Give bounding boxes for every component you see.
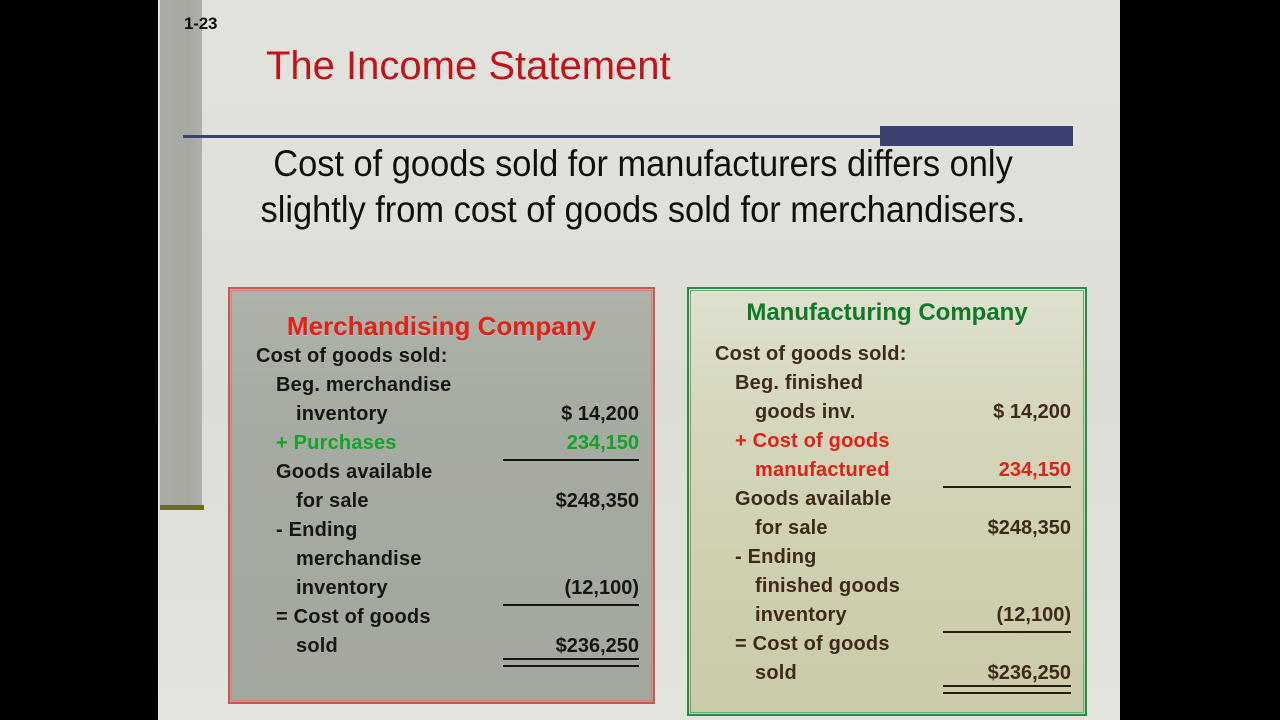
merchandising-panel-heading: Merchandising Company — [230, 311, 653, 342]
statement-row-label: Goods available — [256, 461, 432, 484]
statement-row-amount — [951, 504, 1071, 505]
statement-row-label: sold — [715, 662, 797, 685]
statement-row-label: for sale — [715, 517, 828, 540]
statement-row-label: = Cost of goods — [256, 606, 431, 629]
statement-row-amount: $ 14,200 — [951, 401, 1071, 425]
statement-row-label: merchandise — [256, 548, 422, 571]
statement-row-label: manufactured — [715, 459, 890, 482]
statement-row-amount — [511, 564, 639, 565]
statement-row-label: finished goods — [715, 575, 900, 598]
statement-row-label: inventory — [256, 577, 388, 600]
statement-row-label: - Ending — [715, 546, 817, 569]
statement-row-label: inventory — [715, 604, 847, 627]
statement-row: manufactured234,150 — [715, 459, 1071, 488]
statement-row-amount: $248,350 — [951, 517, 1071, 541]
merchandising-company-panel: Merchandising Company Cost of goods sold… — [228, 287, 655, 704]
statement-row: goods inv.$ 14,200 — [715, 401, 1071, 430]
merchandising-statement-rows: Cost of goods sold:Beg. merchandiseinven… — [230, 345, 653, 664]
statement-row: Cost of goods sold: — [256, 345, 639, 374]
statement-row: merchandise — [256, 548, 639, 577]
statement-row: inventory(12,100) — [256, 577, 639, 606]
statement-row-label: inventory — [256, 403, 388, 426]
manufacturing-statement-rows: Cost of goods sold:Beg. finishedgoods in… — [689, 343, 1085, 691]
statement-row: = Cost of goods — [256, 606, 639, 635]
title-divider-block — [880, 126, 1073, 146]
statement-row: Goods available — [715, 488, 1071, 517]
statement-row-label: goods inv. — [715, 401, 856, 424]
statement-row: sold$236,250 — [715, 662, 1071, 691]
statement-row-label: - Ending — [256, 519, 358, 542]
statement-row-amount: (12,100) — [951, 604, 1071, 628]
manufacturing-panel-heading: Manufacturing Company — [689, 299, 1085, 327]
slide-left-accent-band — [160, 0, 202, 508]
statement-row: sold$236,250 — [256, 635, 639, 664]
statement-row-label: Cost of goods sold: — [715, 343, 907, 366]
statement-row: Beg. finished — [715, 372, 1071, 401]
statement-row: for sale$248,350 — [256, 490, 639, 519]
statement-row-amount — [951, 649, 1071, 650]
statement-row-amount — [511, 361, 639, 362]
statement-row-label: Beg. merchandise — [256, 374, 452, 397]
statement-row-amount: $236,250 — [511, 635, 639, 659]
statement-row-amount: 234,150 — [511, 432, 639, 456]
lead-paragraph: Cost of goods sold for manufacturers dif… — [248, 141, 1039, 233]
statement-row-label: Beg. finished — [715, 372, 863, 395]
statement-row-amount: 234,150 — [951, 459, 1071, 483]
statement-row-amount — [951, 446, 1071, 447]
manufacturing-company-panel: Manufacturing Company Cost of goods sold… — [687, 287, 1087, 716]
statement-row: finished goods — [715, 575, 1071, 604]
statement-row-label: Goods available — [715, 488, 891, 511]
statement-row-amount: $ 14,200 — [511, 403, 639, 427]
statement-row: Cost of goods sold: — [715, 343, 1071, 372]
statement-row-amount: $248,350 — [511, 490, 639, 514]
statement-row-amount — [511, 477, 639, 478]
statement-row: for sale$248,350 — [715, 517, 1071, 546]
statement-row-amount — [951, 359, 1071, 360]
statement-row-label: sold — [256, 635, 338, 658]
statement-row: - Ending — [715, 546, 1071, 575]
statement-row-label: + Purchases — [256, 432, 397, 455]
statement-row-amount — [511, 390, 639, 391]
statement-row: + Purchases234,150 — [256, 432, 639, 461]
statement-row: Goods available — [256, 461, 639, 490]
statement-row-amount: (12,100) — [511, 577, 639, 601]
page-title: The Income Statement — [266, 44, 671, 89]
statement-row-amount: $236,250 — [951, 662, 1071, 686]
statement-row-label: = Cost of goods — [715, 633, 890, 656]
statement-row: + Cost of goods — [715, 430, 1071, 459]
statement-row: = Cost of goods — [715, 633, 1071, 662]
statement-row-amount — [951, 562, 1071, 563]
slide-left-accent-band-foot — [160, 505, 204, 510]
slide-number: 1-23 — [184, 14, 217, 34]
statement-row-amount — [511, 535, 639, 536]
statement-row-label: + Cost of goods — [715, 430, 890, 453]
statement-row: Beg. merchandise — [256, 374, 639, 403]
slide-canvas: 1-23 The Income Statement Cost of goods … — [158, 0, 1120, 720]
statement-row-amount — [951, 388, 1071, 389]
statement-row: inventory$ 14,200 — [256, 403, 639, 432]
statement-row-label: Cost of goods sold: — [256, 345, 448, 368]
statement-row: - Ending — [256, 519, 639, 548]
statement-row-amount — [951, 591, 1071, 592]
presentation-viewer: 1-23 The Income Statement Cost of goods … — [0, 0, 1280, 720]
statement-row: inventory(12,100) — [715, 604, 1071, 633]
statement-row-amount — [511, 622, 639, 623]
statement-row-label: for sale — [256, 490, 369, 513]
